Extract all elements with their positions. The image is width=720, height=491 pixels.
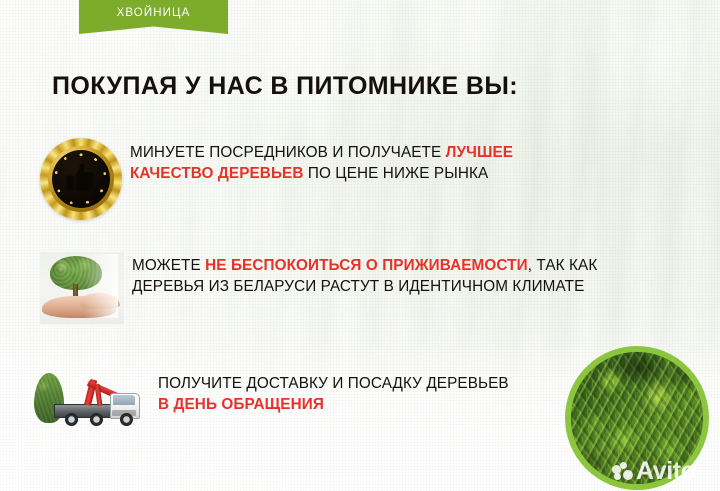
truck-wheel	[90, 413, 103, 426]
benefit-text-2: МОЖЕТЕ НЕ БЕСПОКОИТЬСЯ О ПРИЖИВАЕМОСТИ, …	[132, 252, 612, 297]
benefit-text-1: МИНУЕТЕ ПОСРЕДНИКОВ И ПОЛУЧАЕТЕ ЛУЧШЕЕ К…	[130, 138, 600, 184]
benefit-row-2: МОЖЕТЕ НЕ БЕСПОКОИТЬСЯ О ПРИЖИВАЕМОСТИ, …	[40, 252, 612, 324]
avito-logo-icon	[612, 462, 633, 481]
avito-watermark: Avito	[612, 459, 696, 484]
benefit-highlight-2: НЕ БЕСПОКОИТЬСЯ О ПРИЖИВАЕМОСТИ	[205, 257, 528, 274]
benefit-row-3: ПОЛУЧИТЕ ДОСТАВКУ И ПОСАДКУ ДЕРЕВЬЕВ В Д…	[28, 366, 518, 432]
benefit-row-1: МИНУЕТЕ ПОСРЕДНИКОВ И ПОЛУЧАЕТЕ ЛУЧШЕЕ К…	[40, 138, 600, 220]
benefit-text-1-before: МИНУЕТЕ ПОСРЕДНИКОВ И ПОЛУЧАЕТЕ	[130, 144, 446, 161]
gold-thumbs-up-medal-icon	[40, 138, 122, 220]
truck-wheel	[120, 413, 133, 426]
benefit-text-3-before: ПОЛУЧИТЕ ДОСТАВКУ И ПОСАДКУ ДЕРЕВЬЕВ	[158, 375, 509, 392]
benefit-icon-1	[40, 138, 122, 220]
brand-name-label: ХВОЙНИЦА	[117, 7, 191, 19]
thumbs-up-icon	[61, 159, 101, 199]
promo-banner: ХВОЙНИЦА ПОКУПАЯ У НАС В ПИТОМНИКЕ ВЫ: М…	[0, 0, 720, 491]
benefit-text-3: ПОЛУЧИТЕ ДОСТАВКУ И ПОСАДКУ ДЕРЕВЬЕВ В Д…	[158, 366, 518, 415]
benefit-text-1-after: ПО ЦЕНЕ НИЖЕ РЫНКА	[304, 165, 489, 182]
benefit-text-2-before: МОЖЕТЕ	[132, 257, 205, 274]
avito-watermark-label: Avito	[636, 459, 696, 484]
truck-wheel	[65, 413, 78, 426]
truck-window-shape	[113, 395, 135, 405]
page-title: ПОКУПАЯ У НАС В ПИТОМНИКЕ ВЫ:	[52, 72, 518, 101]
benefit-highlight-3: В ДЕНЬ ОБРАЩЕНИЯ	[158, 396, 324, 413]
truck-flatbed-shape	[54, 404, 112, 418]
benefit-icon-3	[28, 366, 146, 432]
benefit-icon-2	[40, 252, 124, 324]
photo-fade-edge	[84, 254, 118, 318]
hand-holding-tree-icon	[40, 252, 124, 324]
crane-truck-with-tree-icon	[28, 366, 146, 432]
